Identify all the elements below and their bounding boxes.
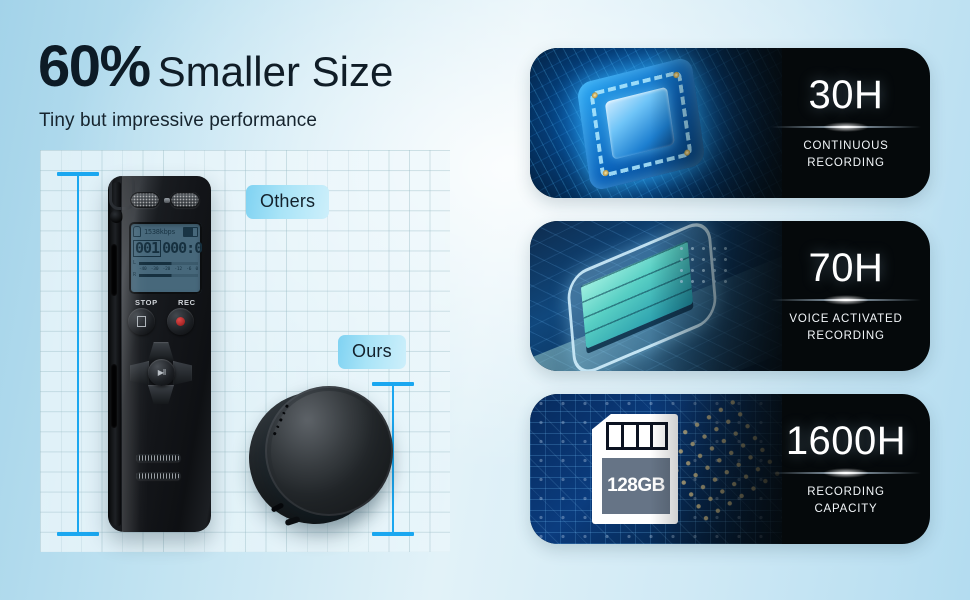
bracket-cap-top [57, 172, 99, 176]
lcd-status-row: 1538kbps [133, 226, 198, 237]
feature-caption-line2: RECORDING [789, 328, 902, 345]
db-tick: -20 [163, 267, 171, 272]
lcd-track-number: 001 [133, 240, 161, 257]
feature-card-text: 70H VOICE ACTIVATED RECORDING [762, 221, 930, 371]
competitor-voice-recorder: 1538kbps 001 000:00:11 L -40 [108, 176, 211, 532]
feature-caption-line2: CAPACITY [807, 501, 884, 518]
feature-caption-line1: RECORDING [807, 484, 884, 501]
dpad-prev-button[interactable] [130, 361, 149, 385]
feature-value: 70H [809, 248, 884, 288]
lcd-bitrate: 1538kbps [144, 228, 175, 236]
recorder-side-rail [108, 182, 121, 526]
glow-divider [771, 472, 921, 474]
rec-button-label: REC [178, 298, 196, 307]
feature-caption-line1: VOICE ACTIVATED [789, 311, 902, 328]
circuit-board-image: 128GB [530, 394, 782, 544]
microphone-grille-left [130, 192, 160, 208]
glow-divider [771, 299, 921, 301]
db-tick: -30 [151, 267, 159, 272]
db-tick: -12 [174, 267, 182, 272]
headline-percent: 60% [38, 38, 150, 96]
record-icon [176, 317, 185, 326]
play-pause-icon: ▶‖ [158, 368, 165, 377]
lcd-timecode: 000:00:11 [162, 239, 202, 257]
navigation-dpad: ▶‖ [130, 342, 192, 404]
recorder-lcd-screen: 1538kbps 001 000:00:11 L -40 [129, 222, 202, 294]
speaker-grille-lower [136, 472, 181, 480]
db-tick: 0 [195, 267, 198, 272]
db-tick: -40 [139, 267, 147, 272]
size-comparison-section: 60% Smaller Size Tiny but impressive per… [0, 0, 500, 600]
feature-value: 30H [809, 75, 884, 115]
microphone-grille-right [170, 192, 200, 208]
side-slot-lower [111, 364, 117, 428]
lcd-mic-icon [133, 226, 141, 237]
headphone-jack [110, 210, 123, 223]
infographic-root: 60% Smaller Size Tiny but impressive per… [0, 0, 970, 600]
feature-card-text: 30H CONTINUOUS RECORDING [762, 48, 930, 198]
our-round-voice-recorder [249, 384, 395, 532]
feature-caption-line1: CONTINUOUS [803, 138, 888, 155]
bracket-cap-bottom [57, 532, 99, 536]
lcd-battery-icon [183, 227, 198, 237]
headline-rest: Smaller Size [158, 51, 394, 93]
db-tick: -6 [186, 267, 191, 272]
label-ours: Ours [338, 335, 406, 369]
stop-button-label: STOP [135, 298, 158, 307]
feature-value: 1600H [786, 421, 906, 461]
page-title: 60% Smaller Size [38, 38, 393, 96]
bracket-cap-bottom [372, 532, 414, 536]
feature-card-recording-capacity: 128GB 1600H RECORDING CAPACITY [530, 394, 930, 544]
lcd-level-bar-left [139, 262, 198, 265]
feature-caption: RECORDING CAPACITY [807, 484, 884, 517]
stop-button[interactable] [128, 308, 155, 335]
lcd-level-meters: L -40 -30 -20 -12 -6 0 R [133, 260, 198, 278]
label-others: Others [246, 185, 329, 219]
feature-card-text: 1600H RECORDING CAPACITY [762, 394, 930, 544]
feature-card-voice-activated: 70H VOICE ACTIVATED RECORDING [530, 221, 930, 371]
speaker-grille-upper [136, 454, 181, 462]
height-measure-others [57, 172, 99, 536]
stop-icon [137, 316, 146, 327]
lcd-channel-right: R [133, 272, 137, 278]
page-subtitle: Tiny but impressive performance [39, 110, 317, 132]
play-pause-button[interactable]: ▶‖ [148, 359, 175, 386]
lcd-level-bar-right [139, 274, 198, 277]
lcd-channel-left: L [133, 260, 137, 266]
feature-card-continuous-recording: 30H CONTINUOUS RECORDING [530, 48, 930, 198]
dpad-next-button[interactable] [173, 361, 192, 385]
feature-caption: VOICE ACTIVATED RECORDING [789, 311, 902, 344]
battery-image [530, 221, 782, 371]
lcd-main-row: 001 000:00:11 [133, 239, 198, 257]
cpu-chip-image [530, 48, 782, 198]
bracket-stem [77, 172, 79, 536]
record-button[interactable] [167, 308, 194, 335]
side-slot-upper [111, 244, 117, 296]
feature-caption-line2: RECORDING [803, 155, 888, 172]
dpad-down-button[interactable] [148, 385, 174, 404]
glow-divider [771, 126, 921, 128]
feature-caption: CONTINUOUS RECORDING [803, 138, 888, 171]
